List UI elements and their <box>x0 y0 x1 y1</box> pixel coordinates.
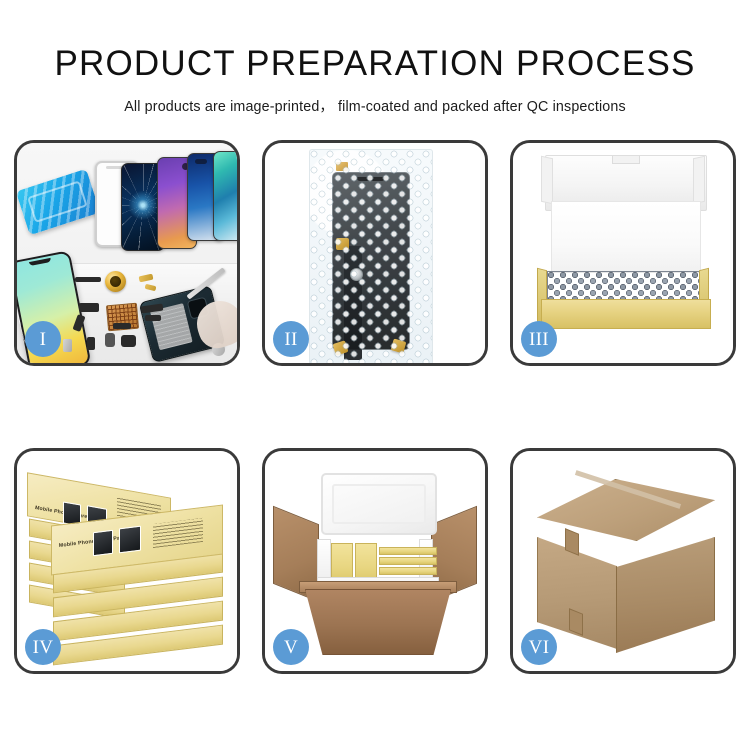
step-badge-1: I <box>25 321 61 357</box>
metal-shield-part <box>63 339 72 352</box>
yellow-box-row <box>379 557 437 565</box>
step-5-image: V <box>265 451 485 671</box>
step-1-image: I <box>17 143 237 363</box>
phone-green-wave <box>213 151 237 241</box>
step-3-image: III <box>513 143 733 363</box>
step-2-image: II <box>265 143 485 363</box>
process-steps-grid: I II <box>14 140 736 674</box>
step-badge-5: V <box>273 629 309 665</box>
bubble-texture <box>310 150 432 363</box>
step-badge-6: VI <box>521 629 557 665</box>
step-panel-3: III <box>510 140 736 366</box>
page-title: PRODUCT PREPARATION PROCESS <box>0 44 750 84</box>
step-4-image: Mobile Phone Spare Parts Mobile Phone Sp… <box>17 451 237 671</box>
sim-tray-part <box>87 337 95 350</box>
step-badge-4: IV <box>25 629 61 665</box>
camera-module-part <box>105 333 115 347</box>
step-panel-2: II <box>262 140 488 366</box>
antenna-part <box>113 323 131 329</box>
ribbon-part <box>145 315 161 321</box>
page-header: PRODUCT PREPARATION PROCESS All products… <box>0 0 750 116</box>
step-panel-5: V <box>262 448 488 674</box>
speaker-part <box>75 277 101 282</box>
bubble-wrapped-contents <box>547 271 705 301</box>
product-preparation-process-page: PRODUCT PREPARATION PROCESS All products… <box>0 0 750 750</box>
foam-box-lid <box>321 473 437 535</box>
box-window-screen <box>93 530 113 556</box>
box-lid-side-left <box>541 156 553 205</box>
vibration-motor-part <box>105 271 126 292</box>
bubble-wrap-bag <box>309 149 433 363</box>
box-front-panel <box>541 299 711 329</box>
step-panel-4: Mobile Phone Spare Parts Mobile Phone Sp… <box>14 448 240 674</box>
taptic-part <box>121 335 136 347</box>
step-badge-3: III <box>521 321 557 357</box>
step-badge-2: II <box>273 321 309 357</box>
box-lid-side-right <box>693 156 705 205</box>
step-6-image: VI <box>513 451 733 671</box>
yellow-box-row <box>379 567 437 575</box>
small-module-part <box>79 303 99 312</box>
step-panel-1: I <box>14 140 240 366</box>
page-subtitle: All products are image-printed， film-coa… <box>0 95 750 116</box>
yellow-box-row <box>379 547 437 555</box>
carton-body <box>305 589 451 655</box>
box-window-screen <box>119 526 141 554</box>
step-panel-6: VI <box>510 448 736 674</box>
foam-sheet <box>551 201 701 273</box>
